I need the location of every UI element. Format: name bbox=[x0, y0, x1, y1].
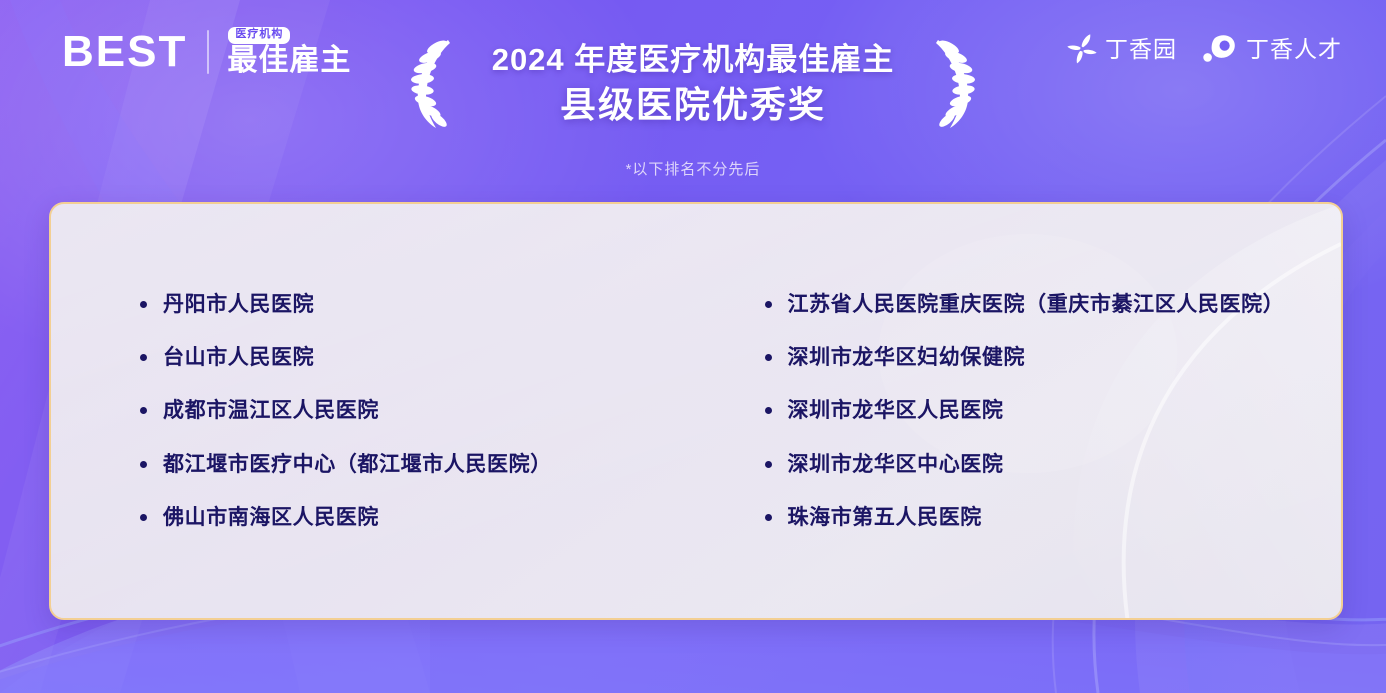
bullet-icon bbox=[765, 354, 772, 361]
award-entry-label: 都江堰市医疗中心（都江堰市人民医院） bbox=[163, 451, 552, 478]
list-item: 深圳市龙华区中心医院 bbox=[765, 451, 1342, 478]
bullet-icon bbox=[765, 407, 772, 414]
list-item: 台山市人民医院 bbox=[140, 344, 741, 371]
list-item: 深圳市龙华区人民医院 bbox=[765, 397, 1342, 424]
title-row: 2024 年度医疗机构最佳雇主 县级医院优秀奖 bbox=[404, 36, 983, 132]
title-block: 2024 年度医疗机构最佳雇主 县级医院优秀奖 bbox=[0, 36, 1386, 179]
award-entry-label: 佛山市南海区人民医院 bbox=[163, 504, 379, 531]
award-entry-label: 深圳市龙华区中心医院 bbox=[788, 451, 1004, 478]
award-entry-label: 珠海市第五人民医院 bbox=[788, 504, 982, 531]
award-columns: 丹阳市人民医院 台山市人民医院 成都市温江区人民医院 都江堰市医疗中心（都江堰市… bbox=[51, 204, 1341, 618]
bullet-icon bbox=[765, 514, 772, 521]
bullet-icon bbox=[140, 461, 147, 468]
bullet-icon bbox=[140, 407, 147, 414]
title-texts: 2024 年度医疗机构最佳雇主 县级医院优秀奖 bbox=[492, 39, 895, 128]
award-entry-label: 台山市人民医院 bbox=[163, 344, 314, 371]
laurel-branch-left-icon bbox=[404, 36, 468, 132]
award-entry-label: 深圳市龙华区人民医院 bbox=[788, 397, 1004, 424]
award-list-card: 丹阳市人民医院 台山市人民医院 成都市温江区人民医院 都江堰市医疗中心（都江堰市… bbox=[49, 202, 1343, 620]
ranking-note: *以下排名不分先后 bbox=[626, 158, 761, 179]
list-item: 江苏省人民医院重庆医院（重庆市綦江区人民医院） bbox=[765, 291, 1342, 318]
list-item: 都江堰市医疗中心（都江堰市人民医院） bbox=[140, 451, 741, 478]
award-entry-label: 江苏省人民医院重庆医院（重庆市綦江区人民医院） bbox=[788, 291, 1285, 318]
award-entry-label: 成都市温江区人民医院 bbox=[163, 397, 379, 424]
list-item: 珠海市第五人民医院 bbox=[765, 504, 1342, 531]
award-entry-label: 深圳市龙华区妇幼保健院 bbox=[788, 344, 1026, 371]
title-line-1: 2024 年度医疗机构最佳雇主 bbox=[492, 39, 895, 81]
list-item: 成都市温江区人民医院 bbox=[140, 397, 741, 424]
list-item: 深圳市龙华区妇幼保健院 bbox=[765, 344, 1342, 371]
award-poster: BEST 医疗机构 最佳雇主 丁香园 bbox=[0, 0, 1386, 693]
bullet-icon bbox=[765, 461, 772, 468]
award-column-left: 丹阳市人民医院 台山市人民医院 成都市温江区人民医院 都江堰市医疗中心（都江堰市… bbox=[140, 291, 741, 531]
title-line-2: 县级医院优秀奖 bbox=[560, 81, 826, 129]
bullet-icon bbox=[140, 301, 147, 308]
list-item: 佛山市南海区人民医院 bbox=[140, 504, 741, 531]
list-item: 丹阳市人民医院 bbox=[140, 291, 741, 318]
bullet-icon bbox=[140, 514, 147, 521]
laurel-branch-right-icon bbox=[918, 36, 982, 132]
award-column-right: 江苏省人民医院重庆医院（重庆市綦江区人民医院） 深圳市龙华区妇幼保健院 深圳市龙… bbox=[741, 291, 1342, 531]
award-entry-label: 丹阳市人民医院 bbox=[163, 291, 314, 318]
bullet-icon bbox=[140, 354, 147, 361]
bullet-icon bbox=[765, 301, 772, 308]
